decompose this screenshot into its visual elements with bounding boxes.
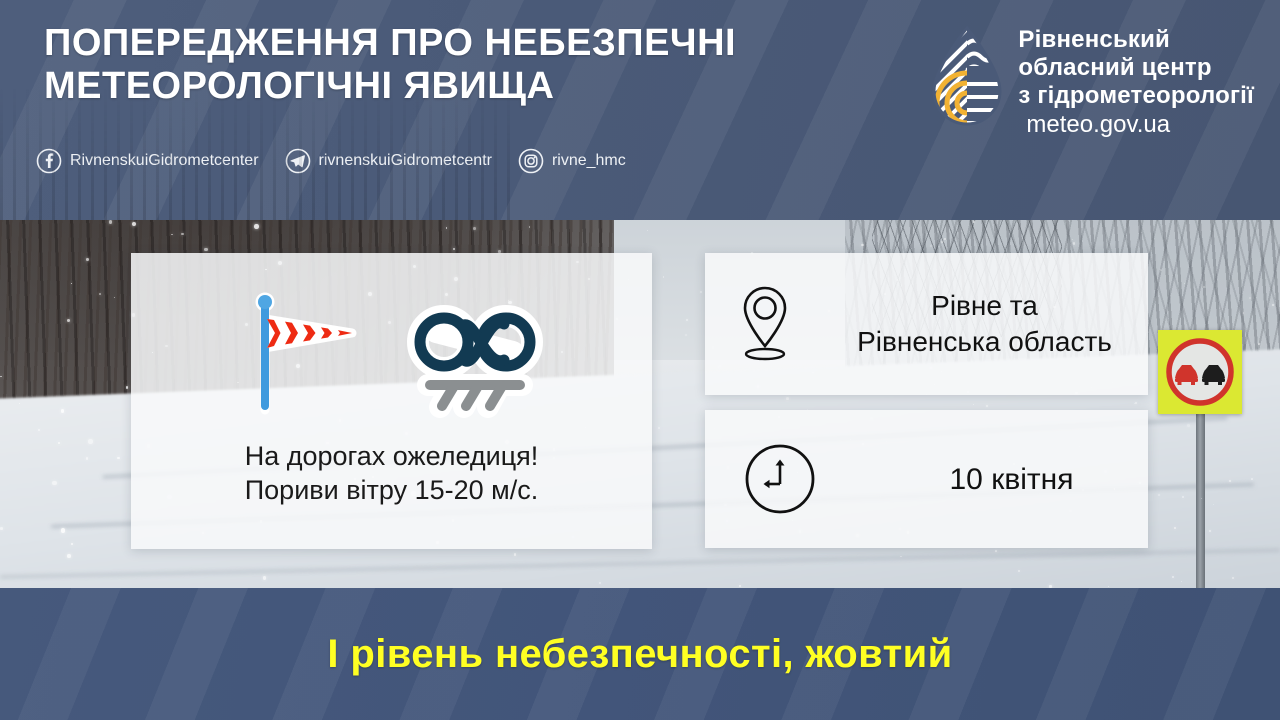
- date-text: 10 квітня: [875, 460, 1148, 499]
- region-text-line-1: Рівне та: [821, 288, 1148, 324]
- page-title-line-1: ПОПЕРЕДЖЕННЯ ПРО НЕБЕЗПЕЧНІ: [44, 22, 814, 65]
- footer-band: I рівень небезпечності, жовтий: [0, 588, 1280, 720]
- social-handle-instagram: rivne_hmc: [552, 152, 626, 170]
- logo-line-1: Рівненський: [1018, 26, 1254, 54]
- no-overtaking-sign: [1158, 330, 1242, 414]
- social-link-telegram[interactable]: rivnenskuiGidrometcentr: [285, 148, 492, 174]
- warning-text-line-2: Пориви вітру 15-20 м/с.: [245, 474, 539, 508]
- water-droplet-logo-icon: [930, 26, 1004, 130]
- clock-icon: [743, 442, 817, 516]
- facebook-icon: [36, 148, 62, 174]
- header-band: ПОПЕРЕДЖЕННЯ ПРО НЕБЕЗПЕЧНІ МЕТЕОРОЛОГІЧ…: [0, 0, 1280, 220]
- warning-text-line-1: На дорогах ожеледиця!: [245, 440, 539, 474]
- logo-website-url: meteo.gov.ua: [1026, 111, 1254, 140]
- warning-text: На дорогах ожеледиця! Пориви вітру 15-20…: [245, 440, 539, 508]
- location-pin-icon: [735, 282, 795, 366]
- instagram-icon: [518, 148, 544, 174]
- warning-icon-row: [234, 286, 550, 426]
- page-title: ПОПЕРЕДЖЕННЯ ПРО НЕБЕЗПЕЧНІ МЕТЕОРОЛОГІЧ…: [44, 22, 814, 108]
- telegram-icon: [285, 148, 311, 174]
- social-links: RivnenskuiGidrometcenter rivnenskuiGidro…: [36, 148, 626, 174]
- page-title-line-2: МЕТЕОРОЛОГІЧНІ ЯВИЩА: [44, 65, 814, 108]
- danger-level-text: I рівень небезпечності, жовтий: [327, 632, 952, 677]
- logo-text-block: Рівненський обласний центр з гідрометеор…: [1018, 26, 1254, 140]
- organization-logo: Рівненський обласний центр з гідрометеор…: [930, 26, 1254, 140]
- weather-warning-poster: ПОПЕРЕДЖЕННЯ ПРО НЕБЕЗПЕЧНІ МЕТЕОРОЛОГІЧ…: [0, 0, 1280, 720]
- no-overtaking-icon: [1162, 334, 1238, 410]
- region-text-line-2: Рівненська область: [821, 324, 1148, 360]
- warning-card: На дорогах ожеледиця! Пориви вітру 15-20…: [131, 253, 652, 549]
- social-handle-facebook: RivnenskuiGidrometcenter: [70, 152, 259, 170]
- region-text: Рівне та Рівненська область: [821, 288, 1148, 361]
- social-link-instagram[interactable]: rivne_hmc: [518, 148, 626, 174]
- date-card: 10 квітня: [705, 410, 1148, 548]
- logo-line-3: з гідрометеорології: [1018, 82, 1254, 110]
- glaze-ice-icon: [400, 290, 550, 422]
- region-card: Рівне та Рівненська область: [705, 253, 1148, 395]
- social-handle-telegram: rivnenskuiGidrometcentr: [319, 152, 492, 170]
- social-link-facebook[interactable]: RivnenskuiGidrometcenter: [36, 148, 259, 174]
- logo-line-2: обласний центр: [1018, 54, 1254, 82]
- wind-pennant-icon: [234, 286, 366, 426]
